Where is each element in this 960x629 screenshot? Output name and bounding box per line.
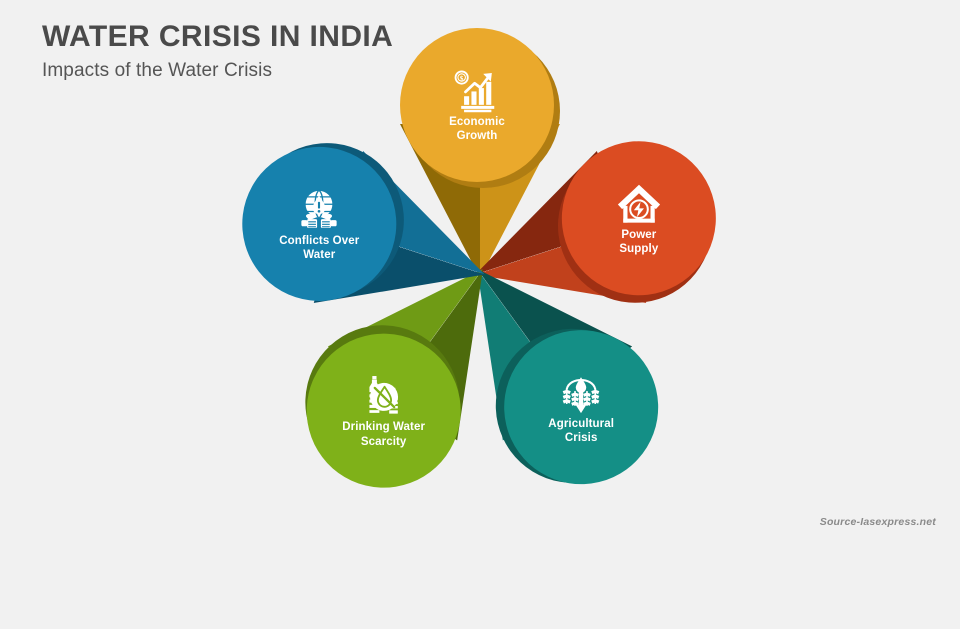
petal-content-conflicts-over-water: Conflicts OverWater (239, 144, 399, 304)
slide-canvas: WATER CRISIS IN INDIA Impacts of the Wat… (0, 0, 960, 540)
petal-label-line2: Water (303, 249, 335, 261)
water-crisis-flower-diagram: $ EconomicGrowth PowerSupply (225, 18, 735, 518)
petal-label-conflicts-over-water: Conflicts OverWater (279, 234, 359, 263)
source-credit: Source-Iasexpress.net (820, 516, 936, 528)
globe-fists-droplet-icon (295, 186, 343, 232)
petal-label-line1: Conflicts Over (279, 235, 359, 247)
